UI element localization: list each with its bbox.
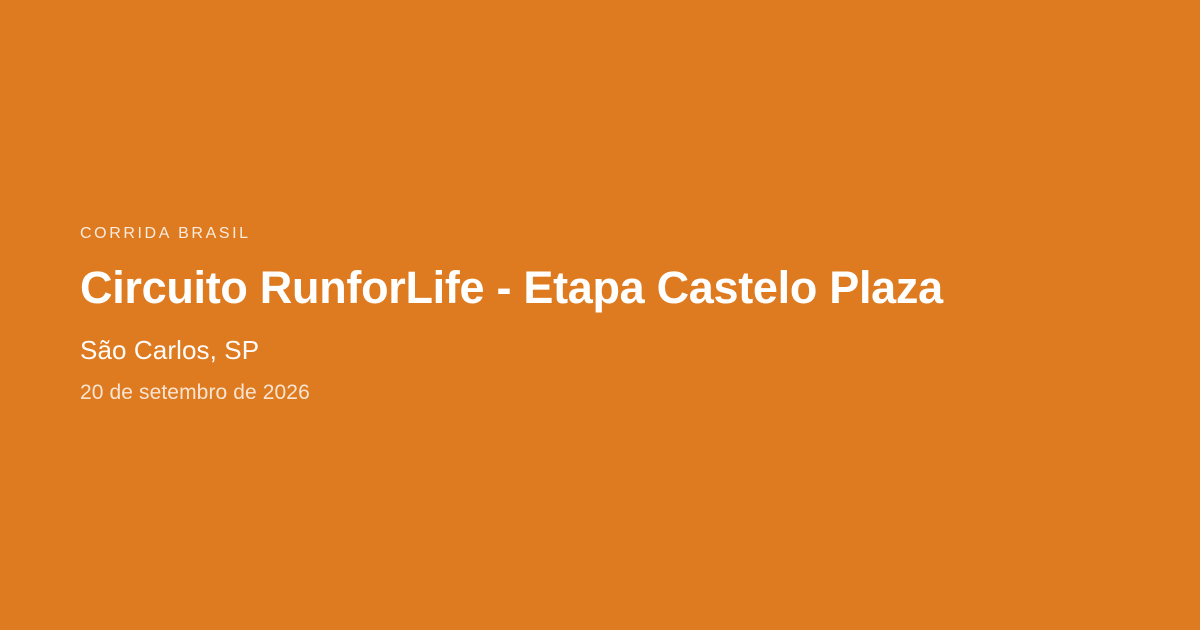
event-share-card: CORRIDA BRASIL Circuito RunforLife - Eta… xyxy=(0,0,1200,630)
event-title: Circuito RunforLife - Etapa Castelo Plaz… xyxy=(80,264,1120,312)
event-text-block: CORRIDA BRASIL Circuito RunforLife - Eta… xyxy=(80,226,1120,403)
event-location: São Carlos, SP xyxy=(80,336,1120,365)
event-date: 20 de setembro de 2026 xyxy=(80,381,1120,404)
event-category-eyebrow: CORRIDA BRASIL xyxy=(80,226,1120,242)
